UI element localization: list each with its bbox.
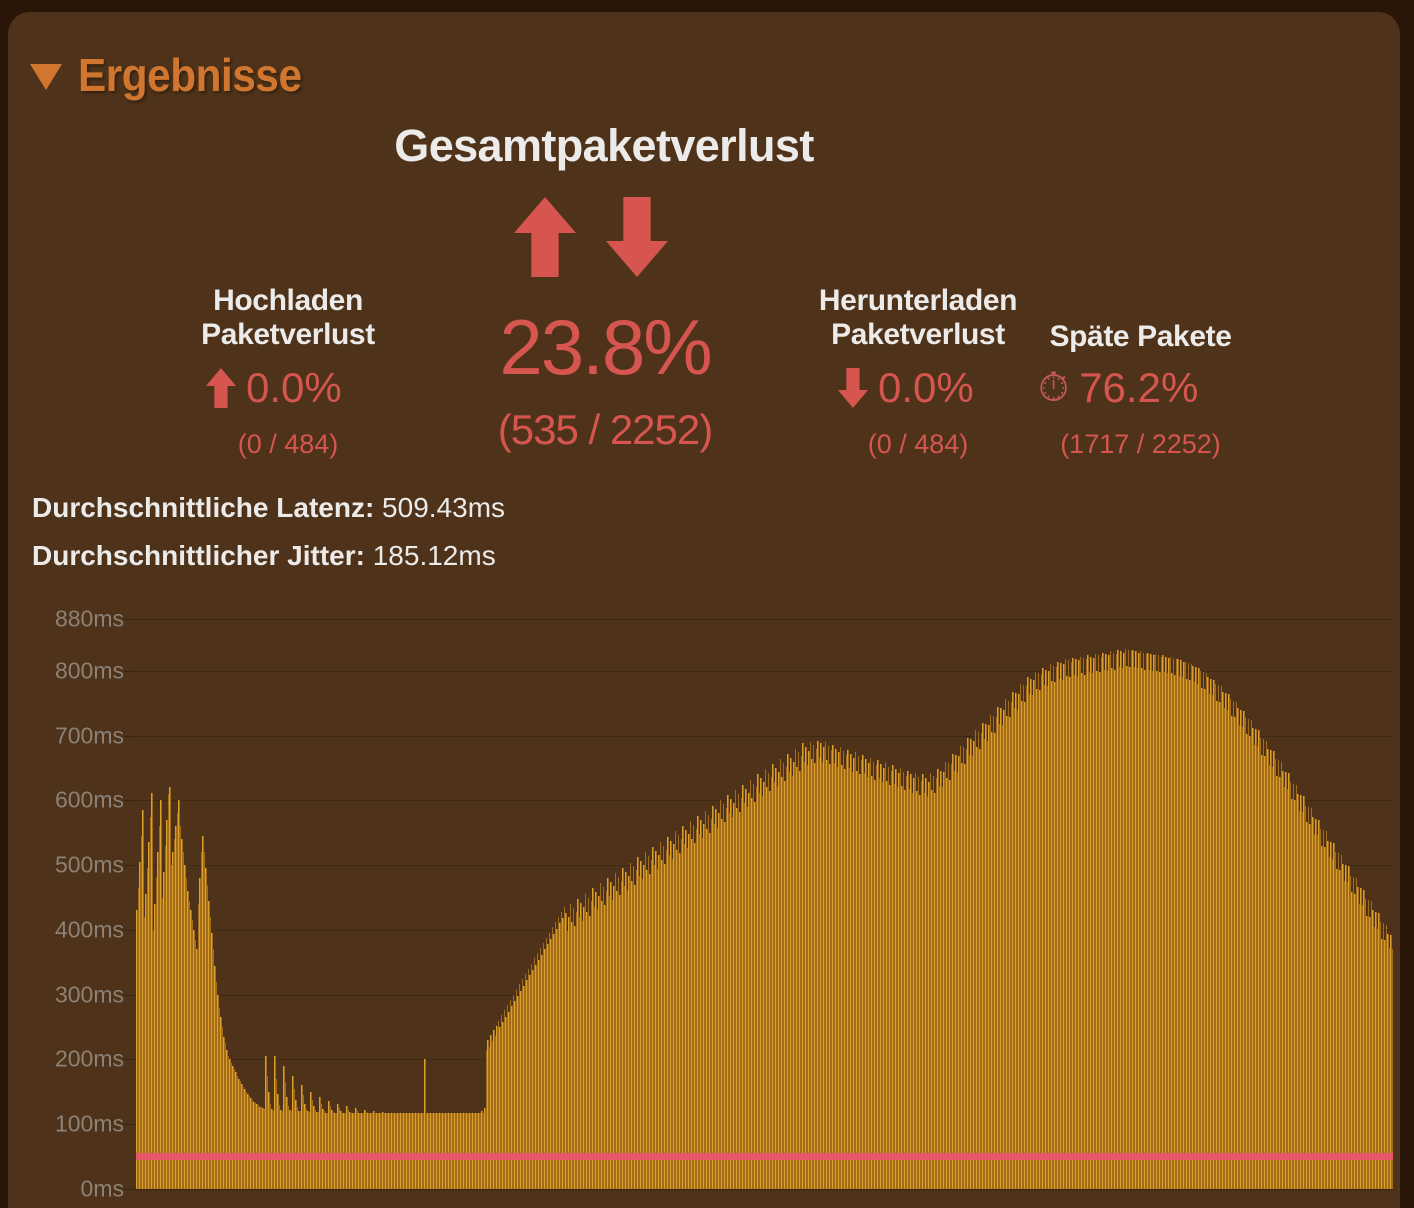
chart-tick-label: 200ms xyxy=(8,1046,124,1073)
chart-tick-mark xyxy=(124,1059,136,1060)
download-loss-value: 0.0% xyxy=(838,364,974,412)
latency-chart: 880ms800ms700ms600ms500ms400ms300ms200ms… xyxy=(8,596,1400,1208)
download-loss-label: Herunterladen Paketverlust xyxy=(798,284,1038,352)
arrow-down-icon xyxy=(606,197,668,277)
chart-tick-label: 400ms xyxy=(8,916,124,943)
chart-tick-mark xyxy=(124,736,136,737)
stopwatch-icon: ⏱ xyxy=(1038,368,1069,408)
arrow-down-icon xyxy=(838,368,868,408)
arrow-up-icon xyxy=(206,368,236,408)
total-loss-fraction: (535 / 2252) xyxy=(460,406,750,454)
average-latency-row: Durchschnittliche Latenz: 509.43ms xyxy=(32,492,505,524)
chart-tick-label: 800ms xyxy=(8,657,124,684)
average-latency-value: 509.43ms xyxy=(382,492,505,523)
chart-baseline xyxy=(136,1189,1393,1190)
average-latency-label: Durchschnittliche Latenz: xyxy=(32,492,374,523)
average-jitter-label: Durchschnittlicher Jitter: xyxy=(32,540,365,571)
upload-loss-label: Hochladen Paketverlust xyxy=(178,284,398,352)
chart-tick-mark xyxy=(124,800,136,801)
chart-tick-label: 700ms xyxy=(8,722,124,749)
chart-threshold-line xyxy=(136,1153,1393,1160)
upload-loss-fraction: (0 / 484) xyxy=(178,429,398,460)
chart-tick-label: 600ms xyxy=(8,787,124,814)
total-loss-percent: 23.8% xyxy=(460,302,750,393)
arrow-up-icon xyxy=(514,197,576,277)
chart-bars xyxy=(136,619,1393,1189)
results-panel: Ergebnisse Gesamtpaketverlust Hochladen … xyxy=(8,12,1400,1208)
chart-tick-mark xyxy=(124,671,136,672)
chart-tick-mark xyxy=(124,995,136,996)
download-loss-fraction: (0 / 484) xyxy=(798,429,1038,460)
chart-tick-label: 100ms xyxy=(8,1111,124,1138)
chart-tick-mark xyxy=(124,865,136,866)
chart-tick-mark xyxy=(124,930,136,931)
chart-tick-label: 0ms xyxy=(8,1176,124,1203)
chart-tick-mark xyxy=(124,1124,136,1125)
chart-tick-label: 880ms xyxy=(8,606,124,633)
upload-loss-value: 0.0% xyxy=(206,364,342,412)
chart-tick-mark xyxy=(124,619,136,620)
chart-plot-area xyxy=(136,619,1393,1189)
average-jitter-row: Durchschnittlicher Jitter: 185.12ms xyxy=(32,540,496,572)
late-packets-value: ⏱ 76.2% xyxy=(1038,364,1198,412)
chart-tick-label: 300ms xyxy=(8,981,124,1008)
chart-tick-label: 500ms xyxy=(8,852,124,879)
chart-tick-mark xyxy=(124,1189,136,1190)
total-loss-arrows xyxy=(514,197,668,277)
late-packets-fraction: (1717 / 2252) xyxy=(1038,429,1243,460)
packet-loss-stats: Hochladen Paketverlust 0.0% (0 / 484) 23… xyxy=(8,12,1400,482)
late-packets-label: Späte Pakete xyxy=(1038,320,1243,354)
average-jitter-value: 185.12ms xyxy=(373,540,496,571)
